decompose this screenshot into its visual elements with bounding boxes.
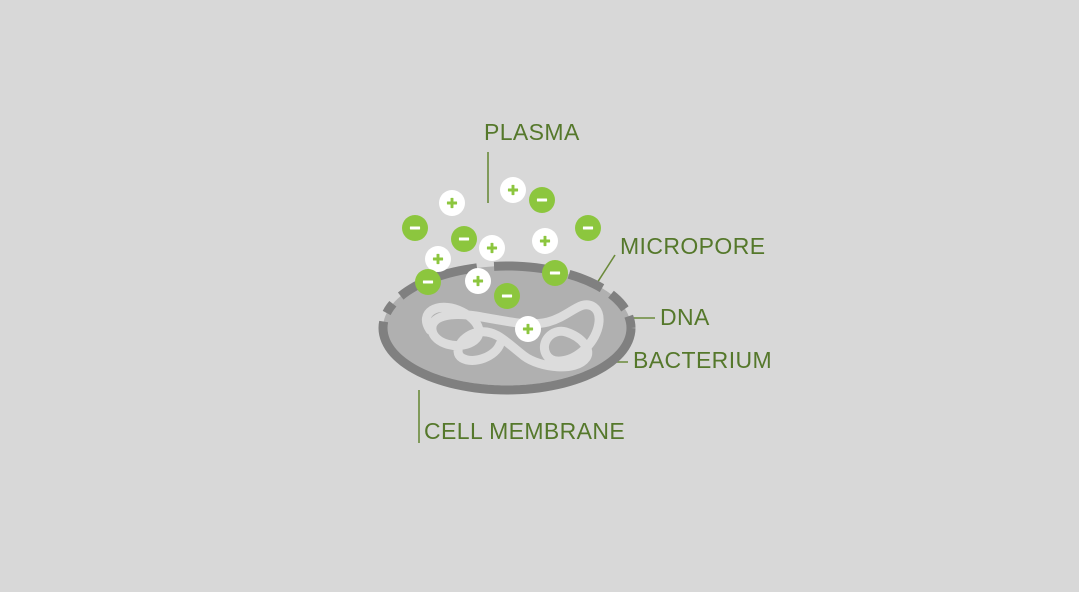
cell-membrane-segment-7 xyxy=(629,316,631,328)
ion-sign-horizontal xyxy=(410,227,420,230)
ion-sign-horizontal xyxy=(459,238,469,241)
diagram-root: PLASMAMICROPOREDNABACTERIUMCELL MEMBRANE xyxy=(0,0,1079,592)
ion-sign-vertical xyxy=(544,236,547,246)
ion-positive xyxy=(465,268,491,294)
ion-sign-vertical xyxy=(451,198,454,208)
label-cell-membrane: CELL MEMBRANE xyxy=(424,418,625,444)
ion-sign-horizontal xyxy=(537,199,547,202)
ion-positive xyxy=(425,246,451,272)
ion-negative xyxy=(542,260,568,286)
ion-negative xyxy=(402,215,428,241)
ion-negative xyxy=(494,283,520,309)
ion-positive xyxy=(515,316,541,342)
ion-sign-horizontal xyxy=(423,281,433,284)
ion-negative xyxy=(415,269,441,295)
label-micropore: MICROPORE xyxy=(620,233,765,259)
ion-sign-horizontal xyxy=(550,272,560,275)
cell-membrane-segment-1 xyxy=(387,304,393,313)
ion-negative xyxy=(529,187,555,213)
ion-negative xyxy=(451,226,477,252)
ion-sign-vertical xyxy=(527,324,530,334)
ion-positive xyxy=(532,228,558,254)
ion-sign-vertical xyxy=(512,185,515,195)
ion-sign-vertical xyxy=(491,243,494,253)
label-dna: DNA xyxy=(660,304,710,330)
ion-positive xyxy=(500,177,526,203)
ion-sign-vertical xyxy=(477,276,480,286)
ion-sign-vertical xyxy=(437,254,440,264)
ion-positive xyxy=(479,235,505,261)
label-plasma: PLASMA xyxy=(484,119,580,145)
bacterium-electroporation-diagram: PLASMAMICROPOREDNABACTERIUMCELL MEMBRANE xyxy=(0,0,1079,592)
ion-sign-horizontal xyxy=(583,227,593,230)
ion-negative xyxy=(575,215,601,241)
label-bacterium: BACTERIUM xyxy=(633,347,772,373)
ion-positive xyxy=(439,190,465,216)
ion-sign-horizontal xyxy=(502,295,512,298)
